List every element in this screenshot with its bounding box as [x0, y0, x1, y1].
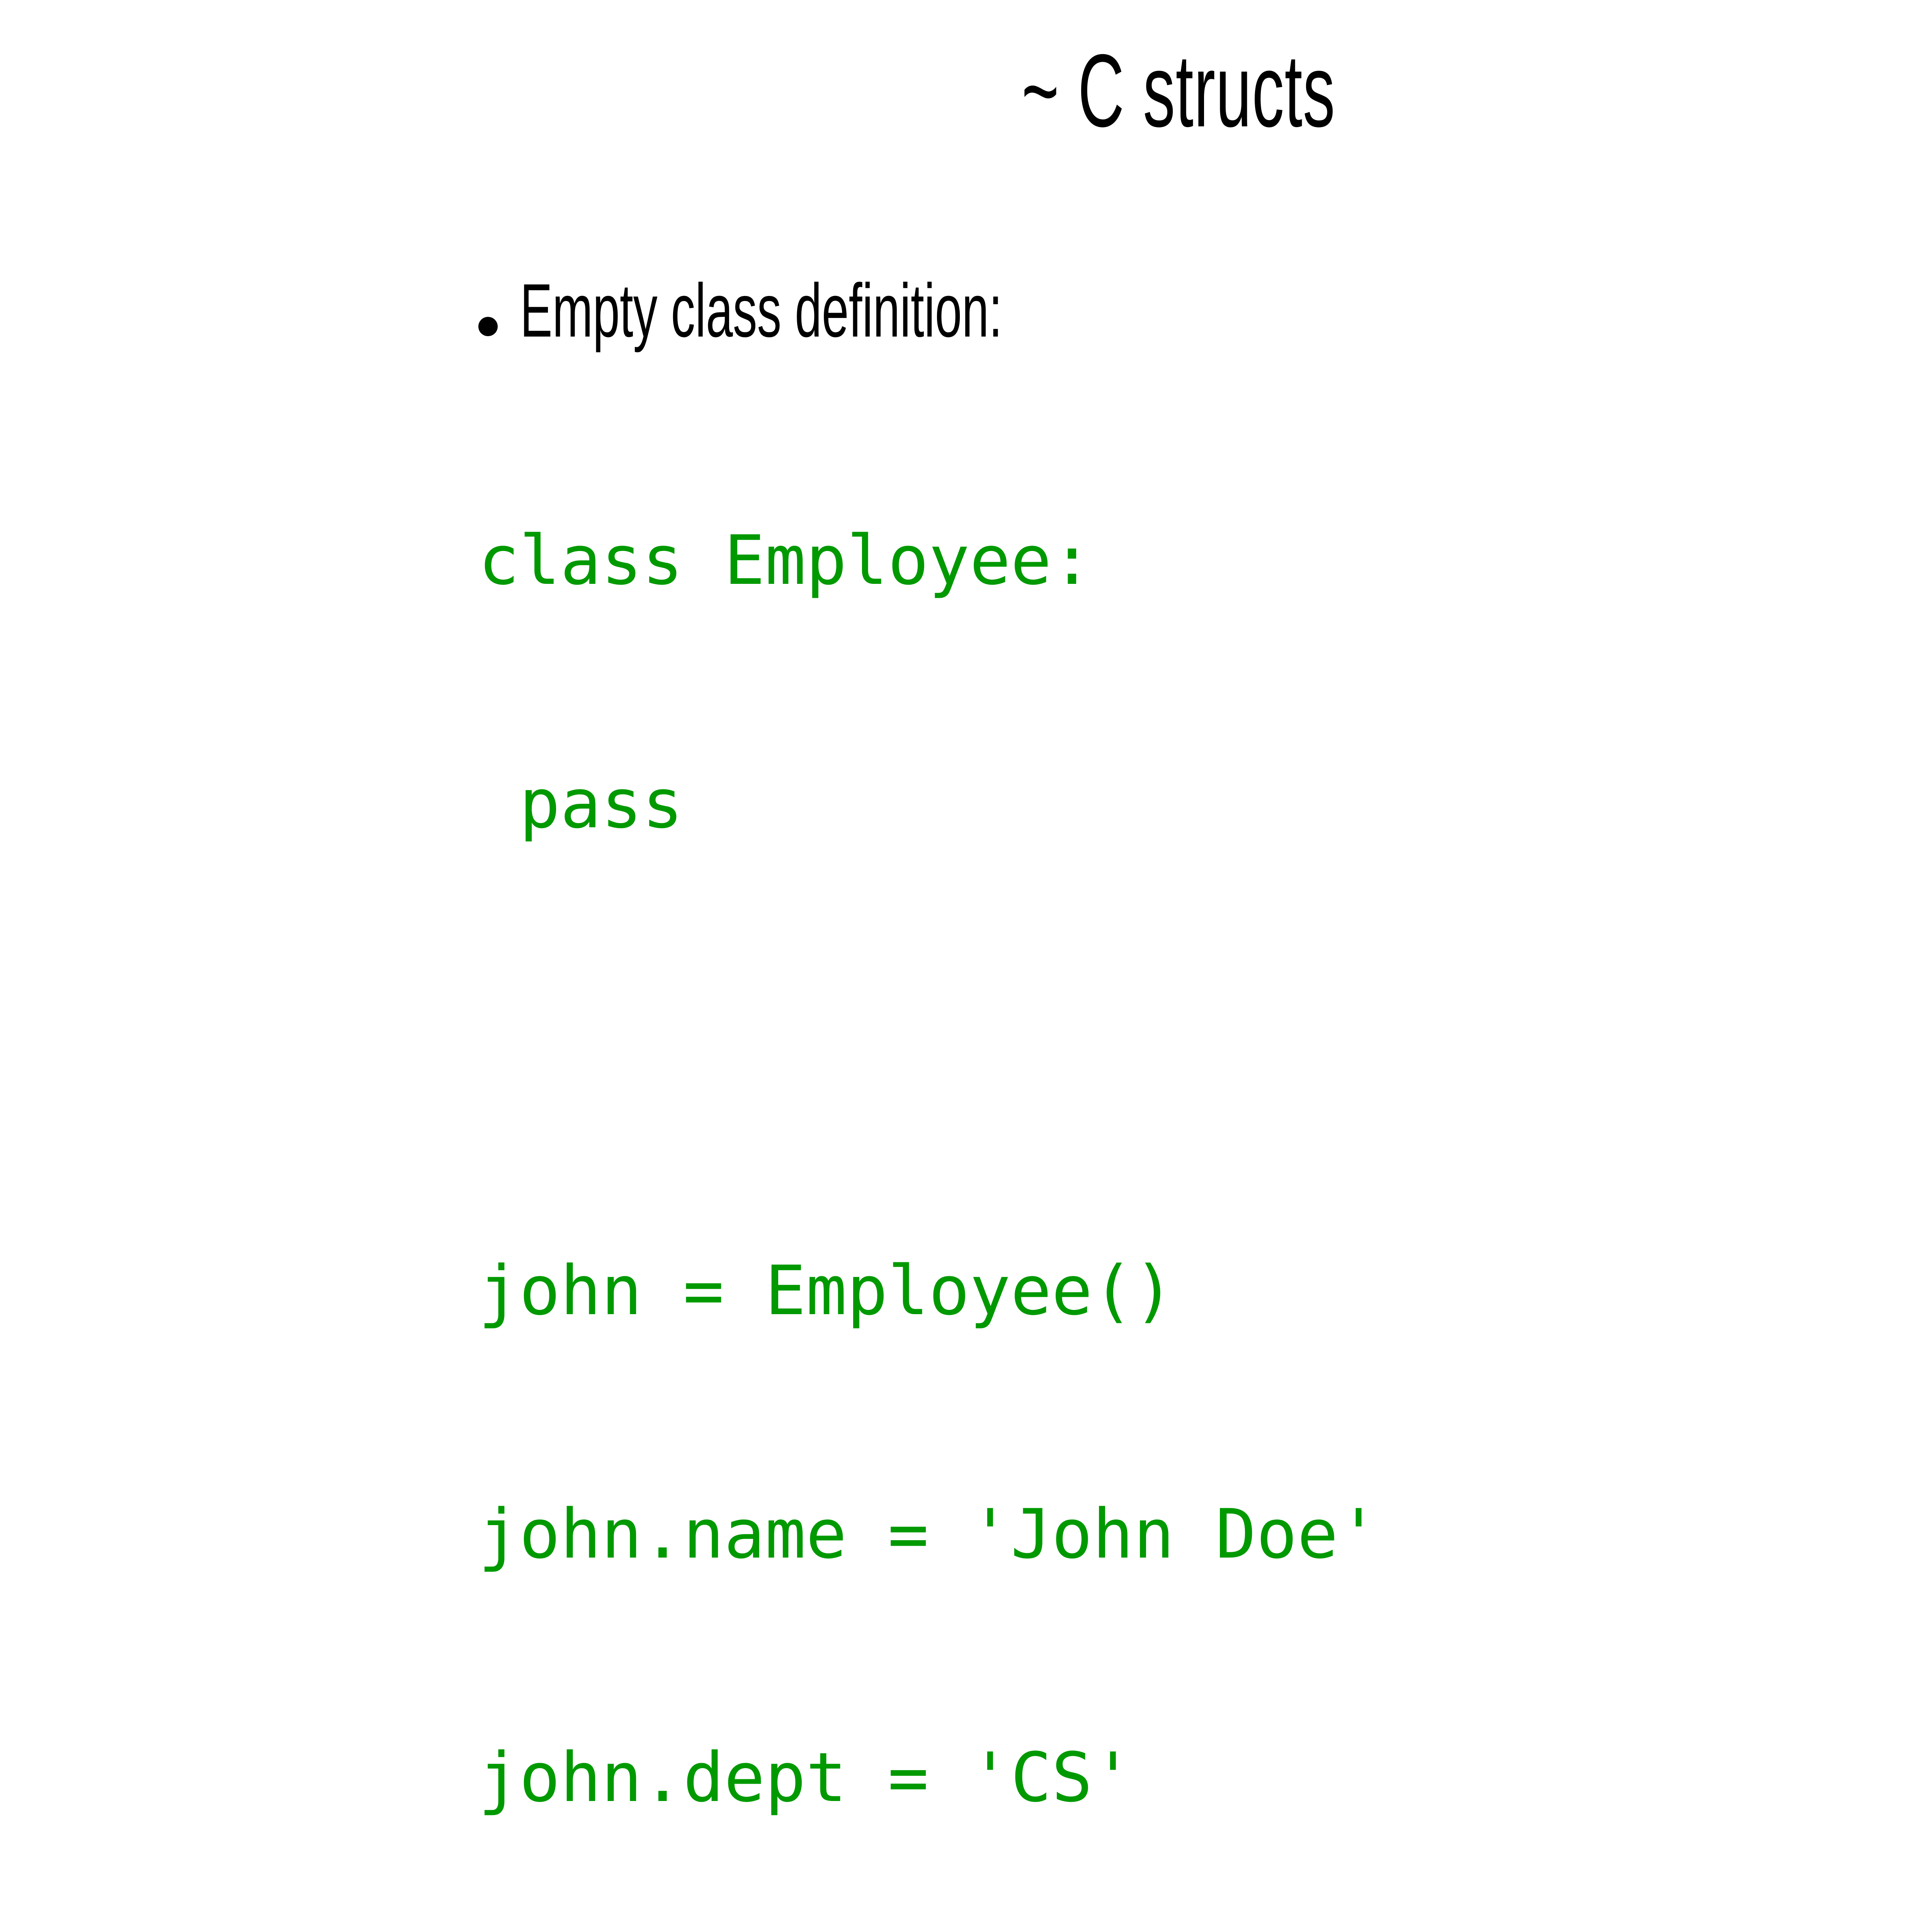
code-line: john.dept = 'CS'	[478, 1737, 1379, 1818]
code-line: john = Employee()	[478, 1250, 1379, 1332]
bullet-list-item: Empty class definition:	[478, 270, 1932, 358]
code-line: pass	[478, 764, 1379, 845]
page-title: ~ C structs	[448, 36, 1909, 145]
bullet-item-label: Empty class definition:	[520, 270, 1002, 351]
code-line: john.name = 'John Doe'	[478, 1494, 1379, 1575]
code-line-blank	[478, 1007, 1379, 1088]
bullet-dot-icon	[478, 317, 498, 336]
code-line: class Employee:	[478, 520, 1379, 601]
code-snippet: class Employee: pass john = Employee() j…	[478, 358, 1379, 1932]
slide-body: Empty class definition: class Employee: …	[478, 270, 1932, 358]
presentation-slide: ~ C structs Empty class definition: clas…	[0, 0, 1932, 1304]
